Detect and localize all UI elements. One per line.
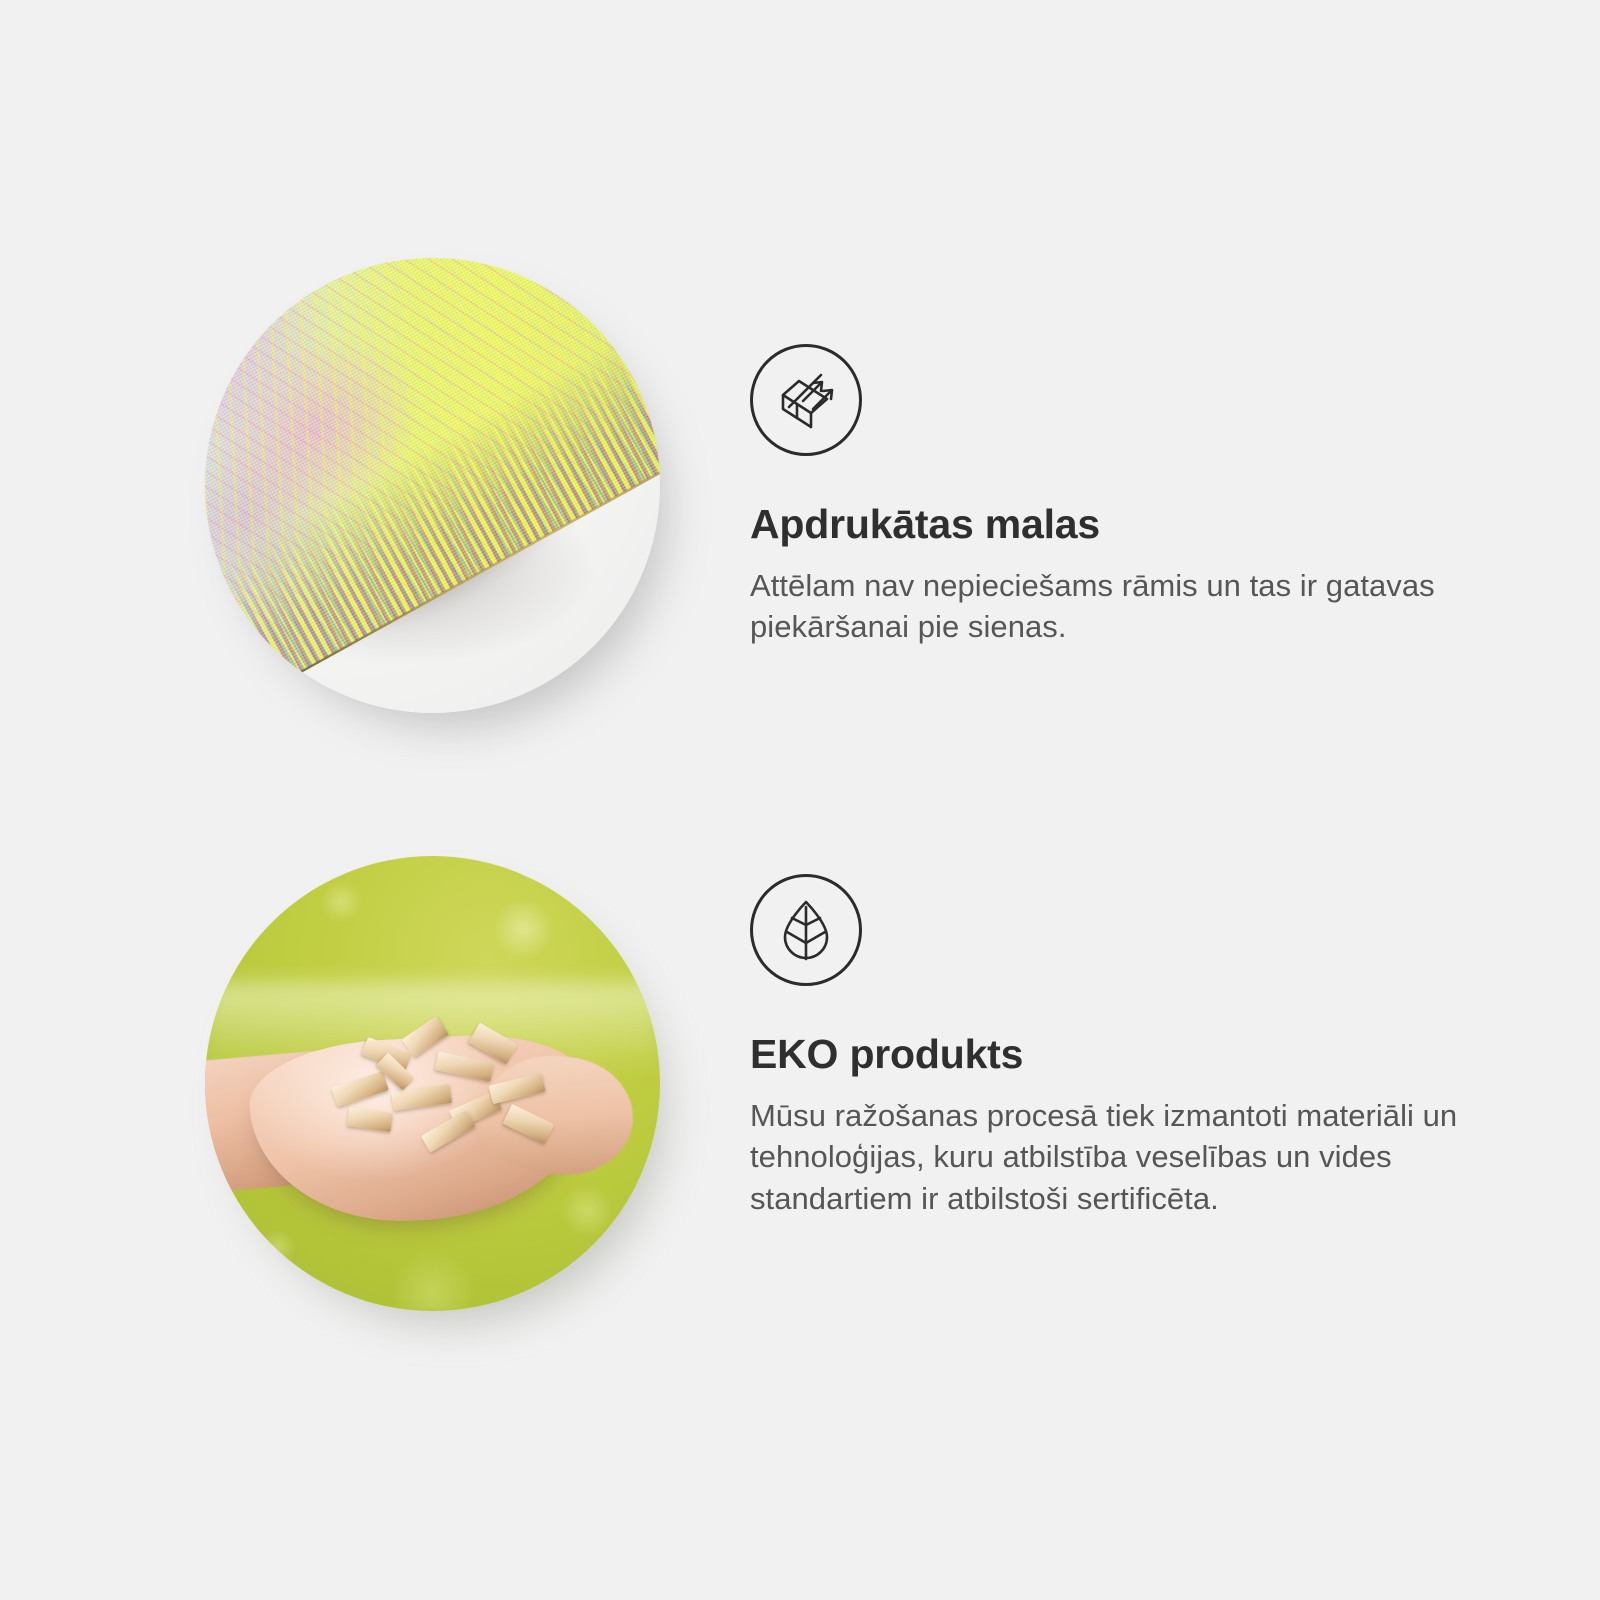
feature-description: Attēlam nav nepieciešams rāmis un tas ir… xyxy=(750,565,1462,647)
leaf-icon xyxy=(750,874,862,986)
feature-description: Mūsu ražošanas procesā tiek izmantoti ma… xyxy=(750,1095,1466,1219)
feature-eco-product: EKO produkts Mūsu ražošanas procesā tiek… xyxy=(750,874,1480,1219)
wrapped-canvas-edges-icon xyxy=(750,344,862,456)
feature-printed-edges: Apdrukātas malas Attēlam nav nepieciešam… xyxy=(750,344,1480,648)
wood-chip-pile xyxy=(323,1011,569,1166)
feature-title: Apdrukātas malas xyxy=(750,502,1480,547)
feature-title: EKO produkts xyxy=(750,1032,1480,1077)
product-features-panel: Apdrukātas malas Attēlam nav nepieciešam… xyxy=(0,0,1600,1600)
